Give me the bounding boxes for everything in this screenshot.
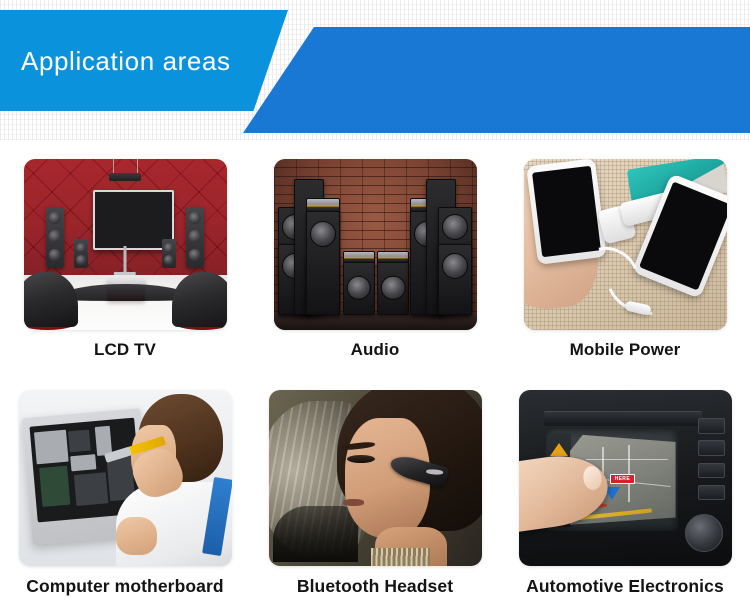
card-label-mobile-power: Mobile Power	[570, 340, 681, 360]
card-label-audio: Audio	[351, 340, 400, 360]
banner-shape-dark	[243, 27, 750, 133]
card-label-bluetooth-headset: Bluetooth Headset	[297, 576, 453, 597]
page-title: Application areas	[21, 46, 231, 77]
illustration-home-theater	[24, 159, 227, 330]
card-label-lcd-tv: LCD TV	[94, 340, 156, 360]
card-bluetooth-headset[interactable]: Bluetooth Headset	[250, 371, 500, 597]
thumbnail-lcd-tv[interactable]	[24, 159, 227, 330]
page-header-banner: Application areas	[0, 0, 750, 140]
card-label-computer-motherboard: Computer motherboard	[26, 576, 223, 597]
card-automotive-electronics[interactable]: HERE Automotive Electronics	[500, 371, 750, 597]
card-mobile-power[interactable]: Mobile Power	[500, 140, 750, 360]
thumbnail-bluetooth-headset[interactable]	[269, 390, 482, 566]
volume-knob	[685, 514, 723, 552]
card-label-automotive-electronics: Automotive Electronics	[526, 576, 724, 597]
illustration-woman-headset	[269, 390, 482, 566]
illustration-technician-repair	[19, 390, 232, 566]
illustration-speaker-stacks	[274, 159, 477, 330]
card-computer-motherboard[interactable]: Computer motherboard	[0, 371, 250, 597]
illustration-car-navigation: HERE	[519, 390, 732, 566]
illustration-phones-powerbank	[524, 159, 727, 330]
card-audio[interactable]: Audio	[250, 140, 500, 360]
application-areas-grid: LCD TV	[0, 140, 750, 597]
thumbnail-automotive-electronics[interactable]: HERE	[519, 390, 732, 566]
thumbnail-mobile-power[interactable]	[524, 159, 727, 330]
map-here-marker-label: HERE	[610, 474, 636, 484]
thumbnail-computer-motherboard[interactable]	[19, 390, 232, 566]
card-lcd-tv[interactable]: LCD TV	[0, 140, 250, 360]
thumbnail-audio[interactable]	[274, 159, 477, 330]
